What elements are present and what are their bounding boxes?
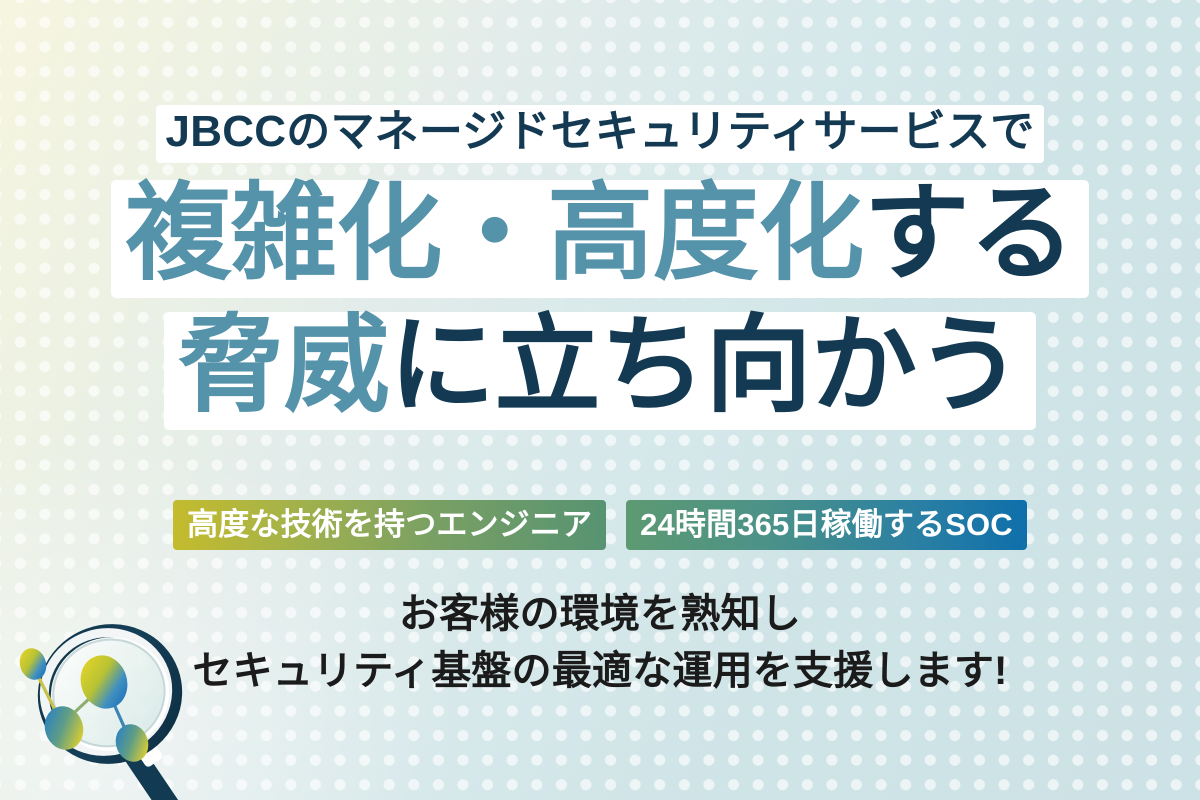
headline-line-1: JBCCのマネージドセキュリティサービスで: [0, 105, 1200, 163]
headline-plate-2: 複雑化・高度化する: [111, 180, 1088, 298]
headline-line-2: 複雑化・高度化する: [0, 180, 1200, 298]
headline-line-3: 脅威に立ち向かう: [0, 312, 1200, 430]
feature-badge-row: 高度な技術を持つエンジニア 24時間365日稼働するSOC: [0, 500, 1200, 550]
headline-line-3-rest: に立ち向かう: [389, 313, 1022, 419]
headline-line-2-rest: する: [864, 181, 1075, 287]
headline-line-3-accent: 脅威: [178, 313, 389, 419]
badge-engineer-label: 高度な技術を持つエンジニア: [187, 509, 592, 540]
headline-plate-3: 脅威に立ち向かう: [164, 312, 1036, 430]
headline-line-2-accent: 複雑化・高度化: [125, 181, 863, 287]
badge-soc-label: 24時間365日稼働するSOC: [640, 509, 1013, 540]
badge-engineer: 高度な技術を持つエンジニア: [173, 500, 606, 550]
headline-line-1-text: JBCCのマネージドセキュリティサービスで: [166, 110, 1035, 154]
badge-soc: 24時間365日稼働するSOC: [626, 500, 1027, 550]
headline-plate-1: JBCCのマネージドセキュリティサービスで: [156, 105, 1045, 163]
hero-banner: JBCCのマネージドセキュリティサービスで 複雑化・高度化する 脅威に立ち向かう…: [0, 0, 1200, 800]
magnifying-glass-network-icon: [10, 612, 220, 800]
